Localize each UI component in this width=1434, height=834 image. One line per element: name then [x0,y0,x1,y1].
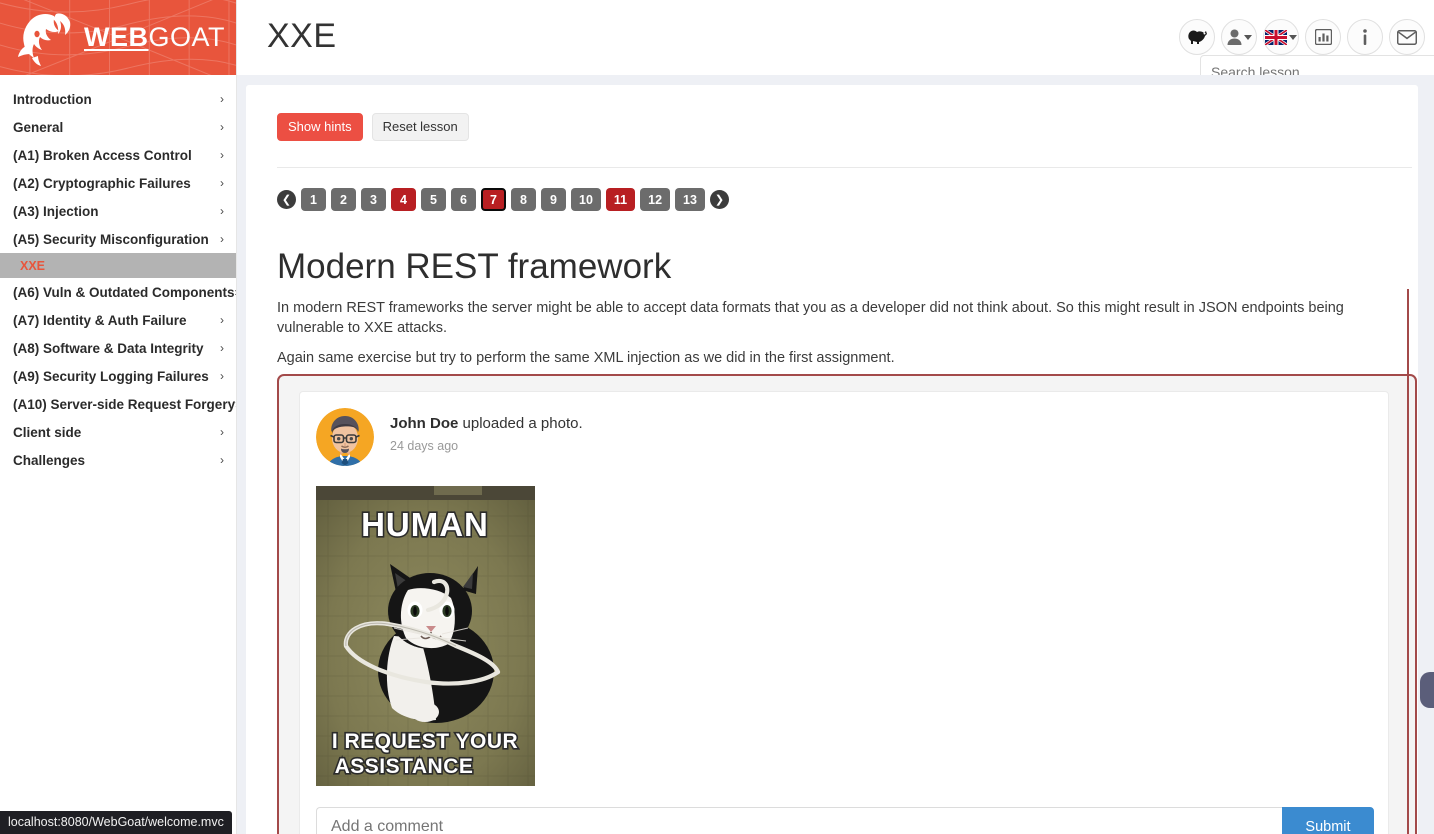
pagination-page-11[interactable]: 11 [606,188,635,211]
sidebar-nav: Introduction›General›(A1) Broken Access … [0,75,236,474]
chevron-right-icon: › [220,425,224,439]
reset-lesson-button[interactable]: Reset lesson [372,113,469,141]
sidebar-item-label: Introduction [13,92,92,107]
post-meta: John Doe uploaded a photo. 24 days ago [390,408,583,453]
pagination-page-6[interactable]: 6 [451,188,476,211]
brand-web: WEB [84,22,149,52]
sidebar-item-label: (A6) Vuln & Outdated Components [13,285,235,300]
chevron-right-icon: › [220,369,224,383]
sidebar-item-a7-identity-auth-failure[interactable]: (A7) Identity & Auth Failure› [0,306,236,334]
envelope-glyph [1397,30,1417,45]
main-content-area: Show hints Reset lesson ❮ 12345678910111… [237,75,1434,834]
uk-flag-glyph [1265,30,1287,45]
chevron-right-icon: › [220,453,224,467]
pagination-page-8[interactable]: 8 [511,188,536,211]
chevron-down-icon [1289,35,1297,40]
chevron-right-icon: › [220,204,224,218]
sidebar-item-label: General [13,120,63,135]
lesson-action-buttons: Show hints Reset lesson [277,113,469,141]
post-author-line: John Doe uploaded a photo. [390,415,583,432]
pagination-page-7[interactable]: 7 [481,188,506,211]
brand-title: WEBGOAT [84,24,225,51]
sidebar-item-client-side[interactable]: Client side› [0,418,236,446]
sidebar-item-label: (A1) Broken Access Control [13,148,192,163]
stats-chart-icon[interactable] [1305,19,1341,55]
chart-glyph [1315,29,1332,45]
chevron-right-icon: › [220,232,224,246]
chevron-right-icon: › [220,148,224,162]
social-post: John Doe uploaded a photo. 24 days ago [299,391,1389,834]
post-author: John Doe [390,415,458,432]
sidebar-item-a3-injection[interactable]: (A3) Injection› [0,197,236,225]
svg-text:I REQUEST YOUR: I REQUEST YOUR [332,730,518,753]
avatar [316,408,374,466]
chevron-right-icon: › [220,313,224,327]
pagination-page-13[interactable]: 13 [675,188,705,211]
sidebar-item-a9-security-logging-failures[interactable]: (A9) Security Logging Failures› [0,362,236,390]
sidebar-item-label: (A2) Cryptographic Failures [13,176,191,191]
brand-goat: GOAT [149,22,226,52]
pagination-page-12[interactable]: 12 [640,188,670,211]
post-header: John Doe uploaded a photo. 24 days ago [316,408,583,466]
lesson-pagination: ❮ 12345678910111213 ❯ [277,188,729,211]
sidebar-item-a1-broken-access-control[interactable]: (A1) Broken Access Control› [0,141,236,169]
assignment-panel: John Doe uploaded a photo. 24 days ago [277,374,1417,834]
sidebar-item-a8-software-data-integrity[interactable]: (A8) Software & Data Integrity› [0,334,236,362]
scroll-indicator[interactable] [1420,672,1434,708]
post-timestamp: 24 days ago [390,439,583,453]
arrow-left-icon[interactable]: ❮ [277,190,296,209]
sidebar-item-label: (A7) Identity & Auth Failure [13,313,187,328]
comment-form: Submit [316,807,1374,834]
header-icon-group [1179,19,1425,55]
sidebar-item-label: Client side [13,425,81,440]
top-header: XXE [237,0,1434,75]
nav-spacer [0,75,236,85]
envelope-icon[interactable] [1389,19,1425,55]
pagination-page-10[interactable]: 10 [571,188,601,211]
comment-input[interactable] [316,807,1282,834]
chevron-right-icon: › [220,120,224,134]
arrow-right-icon[interactable]: ❯ [710,190,729,209]
brand-header[interactable]: WEBGOAT [0,0,236,75]
status-bar-url: localhost:8080/WebGoat/welcome.mvc [0,811,232,834]
pagination-page-5[interactable]: 5 [421,188,446,211]
chevron-down-icon [1244,35,1252,40]
uk-flag-icon[interactable] [1263,19,1299,55]
sidebar-item-general[interactable]: General› [0,113,236,141]
sidebar-item-challenges[interactable]: Challenges› [0,446,236,474]
chevron-right-icon: › [220,92,224,106]
sidebar-item-label: XXE [20,259,45,273]
cat-coat-hanger-meme: HUMAN I REQUEST YOUR ASSISTANCE [316,486,535,786]
sidebar-item-a5-security-misconfiguration[interactable]: (A5) Security Misconfiguration› [0,225,236,253]
info-glyph [1362,29,1368,46]
post-action-text: uploaded a photo. [458,415,582,432]
sidebar-item-label: (A3) Injection [13,204,99,219]
user-icon[interactable] [1221,19,1257,55]
sidebar-item-introduction[interactable]: Introduction› [0,85,236,113]
svg-text:ASSISTANCE: ASSISTANCE [335,755,474,778]
chevron-right-icon: › [220,341,224,355]
lesson-paragraph-2: Again same exercise but try to perform t… [277,348,1412,368]
lesson-title: Modern REST framework [277,247,671,287]
lesson-card: Show hints Reset lesson ❮ 12345678910111… [246,85,1418,834]
goat-mascot-icon[interactable] [1179,19,1215,55]
sidebar-item-a10-server-side-request-forgery[interactable]: (A10) Server-side Request Forgery› [0,390,236,418]
sidebar-item-label: (A9) Security Logging Failures [13,369,209,384]
goat-head-icon [10,8,78,68]
pagination-page-1[interactable]: 1 [301,188,326,211]
svg-text:HUMAN: HUMAN [361,506,489,543]
info-icon[interactable] [1347,19,1383,55]
sidebar-item-a6-vuln-outdated-components[interactable]: (A6) Vuln & Outdated Components› [0,278,236,306]
pagination-page-3[interactable]: 3 [361,188,386,211]
page-title: XXE [267,17,337,56]
pagination-page-2[interactable]: 2 [331,188,356,211]
user-glyph [1227,29,1242,45]
divider [277,167,1412,168]
goat-mascot-glyph [1187,29,1208,46]
meme-image: HUMAN I REQUEST YOUR ASSISTANCE [316,486,535,786]
show-hints-button[interactable]: Show hints [277,113,363,141]
sidebar-item-label: Challenges [13,453,85,468]
pagination-pages: 12345678910111213 [301,188,705,211]
pagination-page-9[interactable]: 9 [541,188,566,211]
chevron-right-icon: › [220,176,224,190]
pagination-page-4[interactable]: 4 [391,188,416,211]
sidebar: WEBGOAT Introduction›General›(A1) Broken… [0,0,237,834]
sidebar-item-xxe[interactable]: XXE [0,253,236,278]
sidebar-item-label: (A8) Software & Data Integrity [13,341,204,356]
sidebar-item-label: (A5) Security Misconfiguration [13,232,209,247]
submit-button[interactable]: Submit [1282,807,1374,834]
assignment-right-border [1407,289,1409,834]
sidebar-item-label: (A10) Server-side Request Forgery [13,397,235,412]
sidebar-item-a2-cryptographic-failures[interactable]: (A2) Cryptographic Failures› [0,169,236,197]
lesson-paragraph-1: In modern REST frameworks the server mig… [277,298,1412,338]
